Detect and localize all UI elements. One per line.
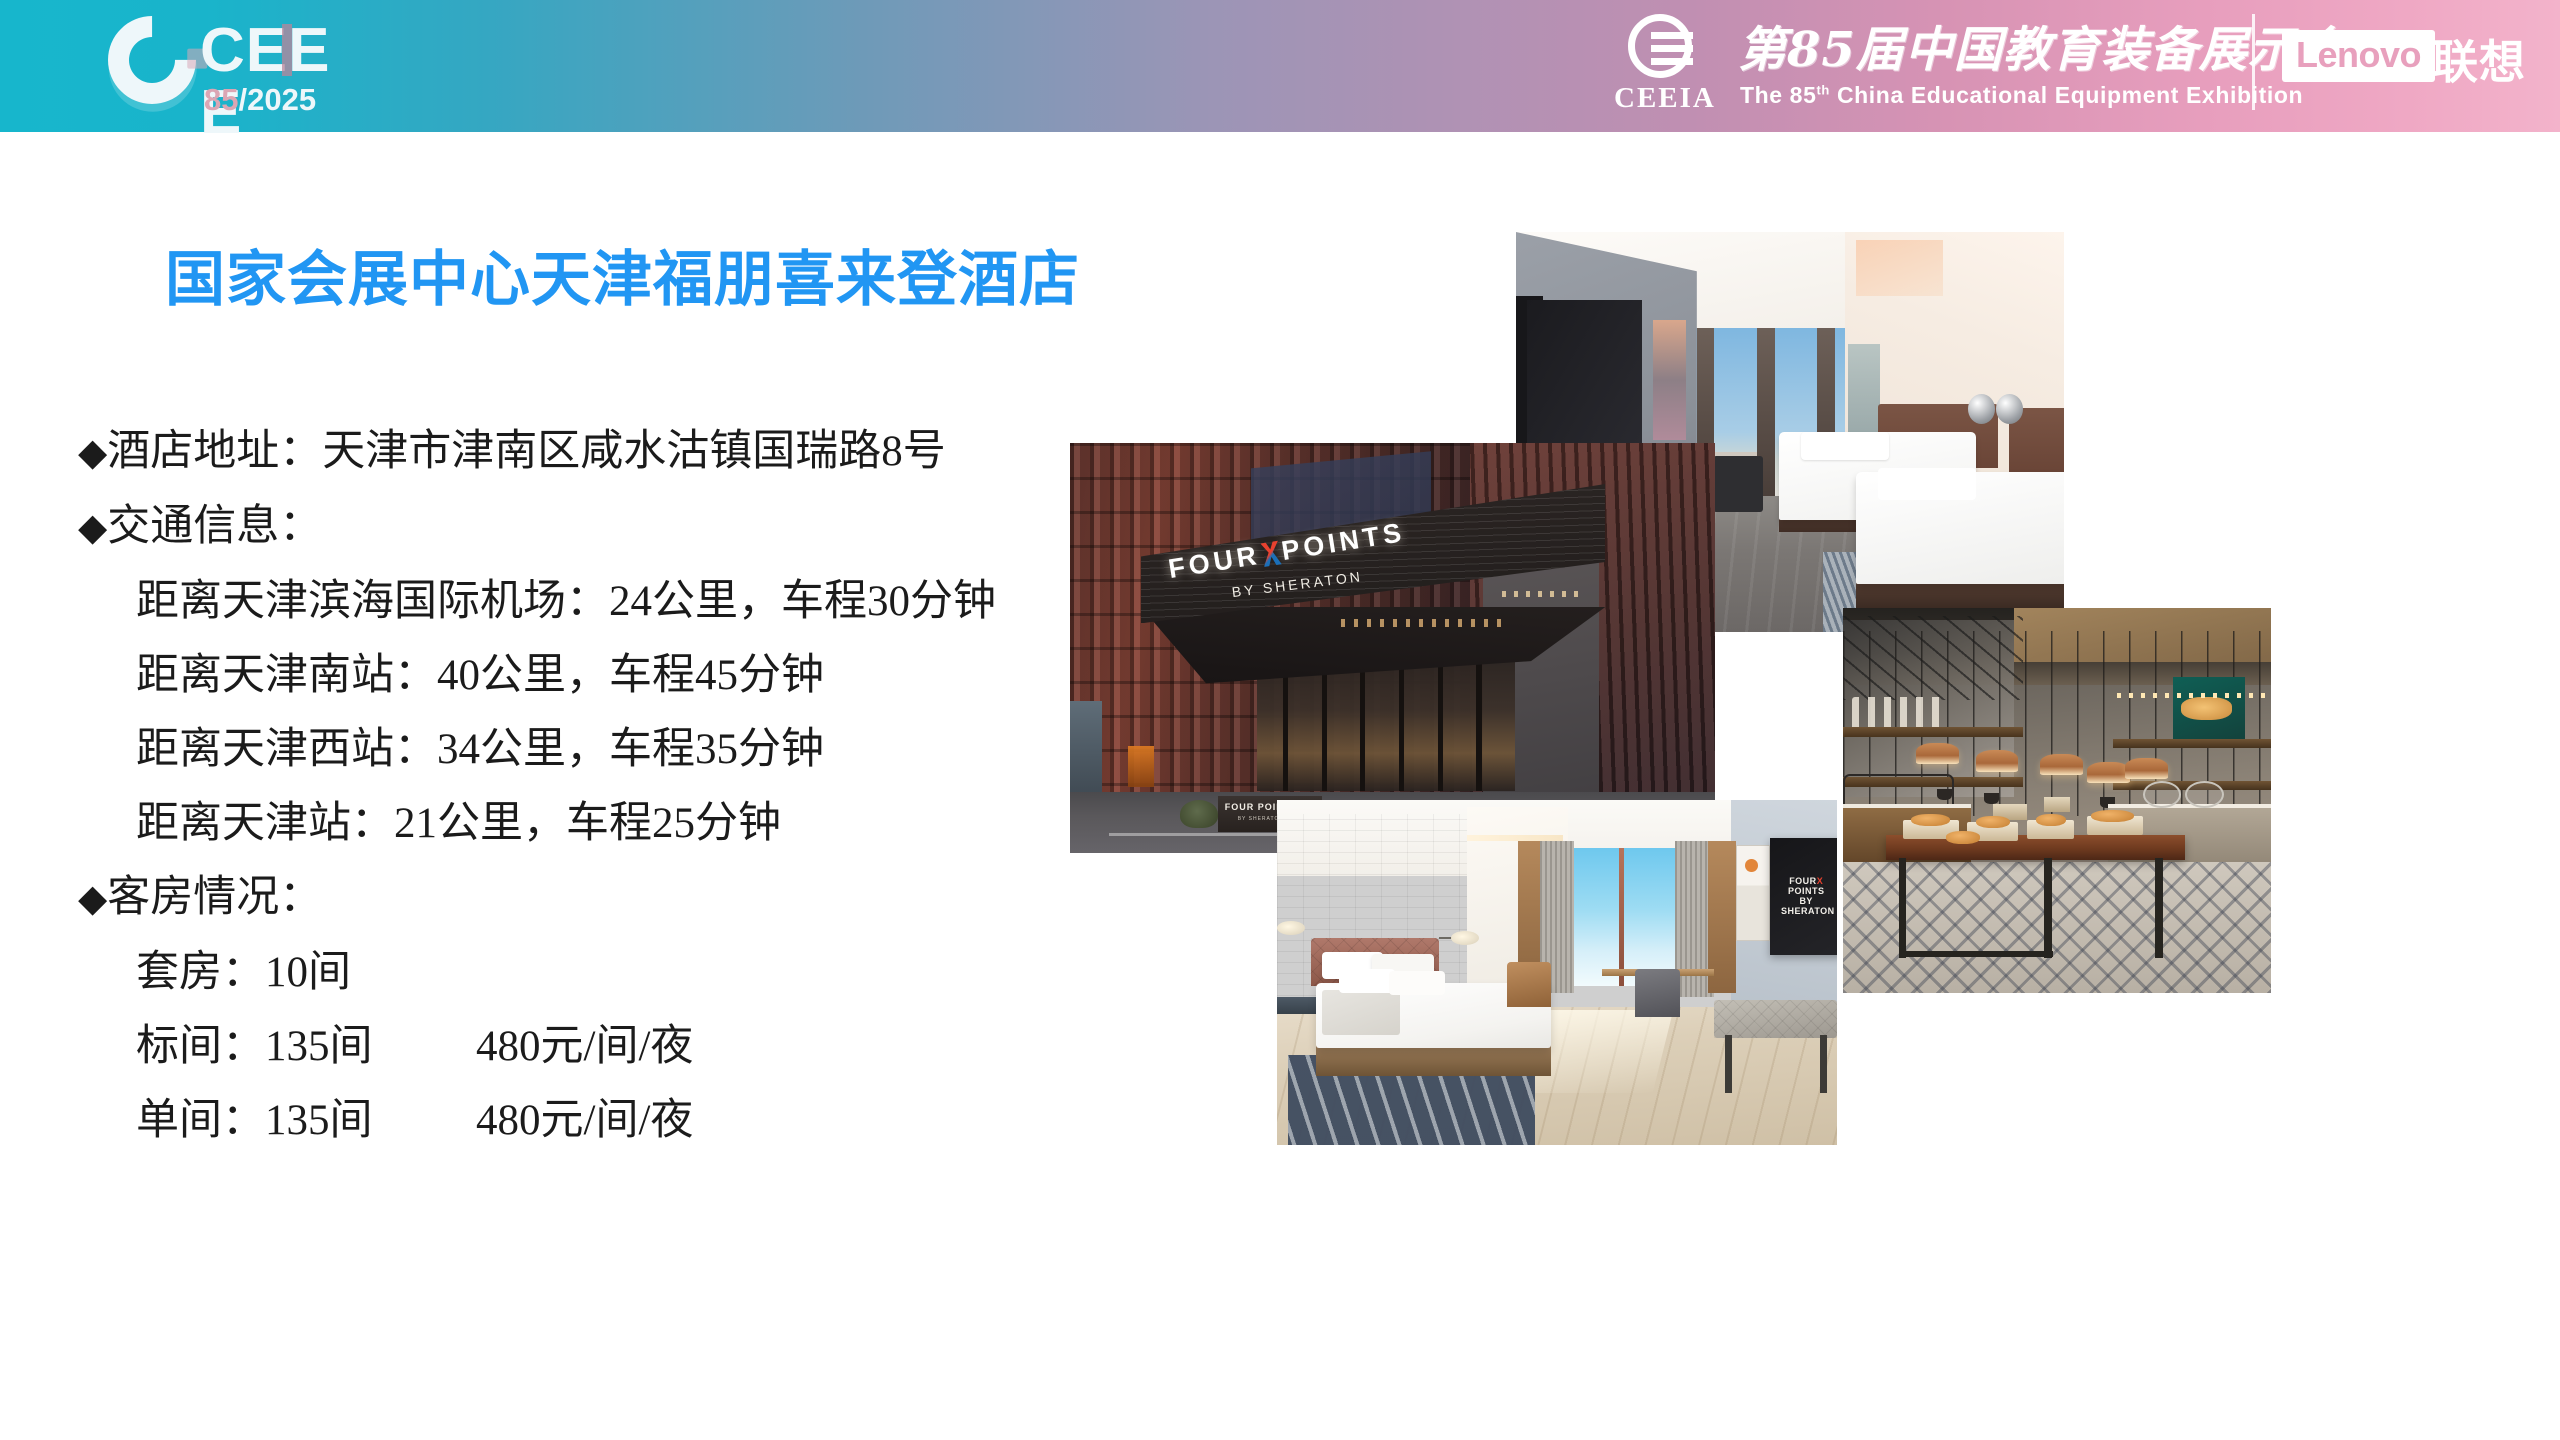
wall-artwork [1653, 320, 1686, 440]
sponsor-name-cn: 联想 [2432, 26, 2526, 92]
header-banner: CEEE 85/2025 CEEIA 第85届中国教育装备展示会 The 85t… [0, 0, 2560, 132]
hotel-sign-word1: FOUR [1166, 540, 1262, 585]
pastry [2036, 814, 2066, 826]
table-leg [1899, 858, 1907, 958]
bench-leg [1820, 1035, 1827, 1094]
display-shelf [2113, 739, 2271, 748]
ceee-brand-logo: CEEE 85/2025 [108, 6, 338, 124]
pendant-lamp-icon [2040, 754, 2083, 775]
ceee-year-number: 2025 [247, 82, 316, 117]
canopy-downlights [1502, 591, 1579, 597]
room-rate-price: 480元/间/夜 [476, 1010, 693, 1084]
pillow [1389, 971, 1445, 995]
nightstand [1277, 997, 1322, 1014]
pillow [1339, 969, 1395, 993]
list-item-label: 酒店地址：天津市津南区咸水沽镇国瑞路8号 [107, 428, 946, 475]
bed-throw [1322, 990, 1400, 1035]
list-item: ◆酒店地址：天津市津南区咸水沽镇国瑞路8号 [78, 415, 1138, 490]
list-item: ◆交通信息： [78, 490, 1138, 565]
display-shelf [1843, 727, 2023, 737]
tv-logo-line1: FOUR [1789, 876, 1817, 886]
globe-lamp-icon [1996, 394, 2023, 424]
tv-logo-line2: POINTS [1788, 886, 1825, 896]
glazing-mullion [1399, 656, 1404, 791]
room-rate-price: 480元/间/夜 [476, 1084, 693, 1158]
four-points-x-icon [1260, 540, 1282, 567]
glazing-mullion [1322, 656, 1327, 791]
sponsor-logo-text: Lenovo [2296, 36, 2421, 74]
canopy-downlights [1341, 619, 1509, 627]
bench-tufting [1714, 1000, 1837, 1038]
list-item-label: 客房情况： [107, 874, 322, 921]
room-rate-row: 单间：135间 480元/间/夜 [78, 1084, 1138, 1158]
ceee-letters-prefix: CE [200, 16, 288, 85]
wall-light-glow [1856, 240, 1944, 296]
heat-lamp-icon [1937, 789, 1952, 801]
pastry [1946, 831, 1980, 843]
shrub [1180, 800, 1219, 829]
sponsor-logo-box: Lenovo [2282, 30, 2435, 82]
warm-light [1128, 746, 1154, 787]
cove-lighting [1467, 835, 1562, 842]
pastry [1976, 816, 2010, 828]
hotel-exterior-photo: FOUR POINTS BY SHERATON FOUR POINTS BY S… [1070, 443, 1715, 853]
desk-chair [1635, 969, 1680, 1017]
pendant-lamp-icon [1916, 743, 1959, 764]
chair [1713, 456, 1762, 512]
list-item-label: 距离天津站：21公里，车程25分钟 [136, 800, 781, 847]
table-leg [2155, 858, 2163, 958]
list-item-label: 距离天津西站：34公里，车程35分钟 [136, 726, 824, 773]
ceee-circle-logo-icon [90, 0, 214, 122]
ceeia-wordmark: CEEIA [1614, 82, 1716, 115]
header-divider [2252, 14, 2255, 110]
list-item: 距离天津滨海国际机场：24公里，车程30分钟 [78, 565, 1138, 639]
hotel-sign-word2: POINTS [1279, 517, 1407, 567]
ceeia-bar-middle [1651, 45, 1693, 52]
bullet-diamond-icon: ◆ [78, 432, 107, 474]
window-mullion [1619, 848, 1625, 986]
bench-leg [1725, 1035, 1732, 1094]
king-bed-guest-room-photo: FOURX POINTS BY SHERATON [1277, 800, 1837, 1145]
poster-food-image [2181, 697, 2232, 720]
side-wall [1070, 701, 1102, 804]
list-item: ◆客房情况： [78, 861, 1138, 936]
television [1527, 300, 1642, 464]
chafing-dish [2185, 781, 2224, 808]
ceeia-bar-top [1651, 32, 1693, 39]
exhibition-title-en-ordinal: th [1816, 82, 1829, 97]
page-title: 国家会展中心天津福朋喜来登酒店 [165, 231, 1080, 318]
restaurant-buffet-photo [1843, 608, 2271, 993]
led-strip [2117, 693, 2267, 699]
sconce-lamp-icon [1451, 931, 1479, 945]
sconce-lamp-icon [1277, 921, 1305, 935]
exhibition-title-en-prefix: The 85 [1740, 82, 1816, 108]
tv-screen-logo: FOURX POINTS BY SHERATON [1781, 876, 1831, 916]
pastry [2091, 810, 2134, 822]
room-rate-label: 标间：135间 [136, 1010, 476, 1084]
armchair [1507, 962, 1552, 1007]
sunlight-patch [1530, 1010, 1674, 1093]
table-stretcher [1899, 951, 2053, 957]
list-item: 距离天津南站：40公里，车程45分钟 [78, 639, 1138, 713]
glazing-mullion [1360, 656, 1365, 791]
bullet-diamond-icon: ◆ [78, 878, 107, 920]
pillow [1801, 432, 1889, 460]
list-item-label: 套房：10间 [136, 949, 351, 996]
room-rate-label: 单间：135间 [136, 1084, 476, 1158]
room-rate-row: 标间：135间 480元/间/夜 [78, 1010, 1138, 1084]
list-item-label: 距离天津滨海国际机场：24公里，车程30分钟 [136, 578, 996, 625]
table-leg [2044, 858, 2052, 958]
exhibition-title-en: The 85th China Educational Equipment Exh… [1740, 82, 2303, 109]
slide-canvas: CEEE 85/2025 CEEIA 第85届中国教育装备展示会 The 85t… [0, 0, 2560, 1440]
ceee-letters-mid: E [288, 20, 330, 82]
patterned-tile-floor [1843, 862, 2271, 993]
pillow [1878, 468, 1977, 500]
list-item: 距离天津站：21公里，车程25分钟 [78, 787, 1138, 861]
pastry [1911, 814, 1950, 826]
pendant-lamp-icon [2087, 762, 2130, 783]
list-item: 套房：10间 [78, 936, 1138, 1010]
ceeia-logo-block: CEEIA [1614, 14, 1726, 120]
ceee-edition-year: 85/2025 [204, 84, 316, 115]
ceeia-bar-bottom [1651, 58, 1693, 65]
ceee-separator: / [238, 82, 247, 117]
display-crate [2044, 797, 2070, 812]
glass-jars [1852, 697, 1946, 728]
glazing-mullion [1476, 656, 1481, 791]
ceee-edition-number: 85 [204, 82, 238, 117]
tv-logo-line3: BY SHERATON [1781, 896, 1835, 916]
four-points-x-icon: X [1817, 876, 1824, 886]
bed-base [1316, 1045, 1551, 1076]
bullet-diamond-icon: ◆ [78, 507, 107, 549]
glazing-mullion [1438, 656, 1443, 791]
chafing-dish [2143, 781, 2182, 808]
pendant-lamp-icon [1976, 750, 2019, 771]
pendant-lamp-icon [2125, 758, 2168, 779]
window [1568, 848, 1680, 986]
heat-lamp-icon [1984, 793, 1999, 805]
ceeia-circle-emblem-icon [1628, 14, 1692, 78]
list-item-label: 距离天津南站：40公里，车程45分钟 [136, 652, 824, 699]
list-item-label: 交通信息： [107, 503, 322, 550]
list-item: 距离天津西站：34公里，车程35分钟 [78, 713, 1138, 787]
content-body: ◆酒店地址：天津市津南区咸水沽镇国瑞路8号 ◆交通信息： 距离天津滨海国际机场：… [78, 415, 1138, 1158]
exhibition-title-en-suffix: China Educational Equipment Exhibition [1830, 82, 2303, 108]
